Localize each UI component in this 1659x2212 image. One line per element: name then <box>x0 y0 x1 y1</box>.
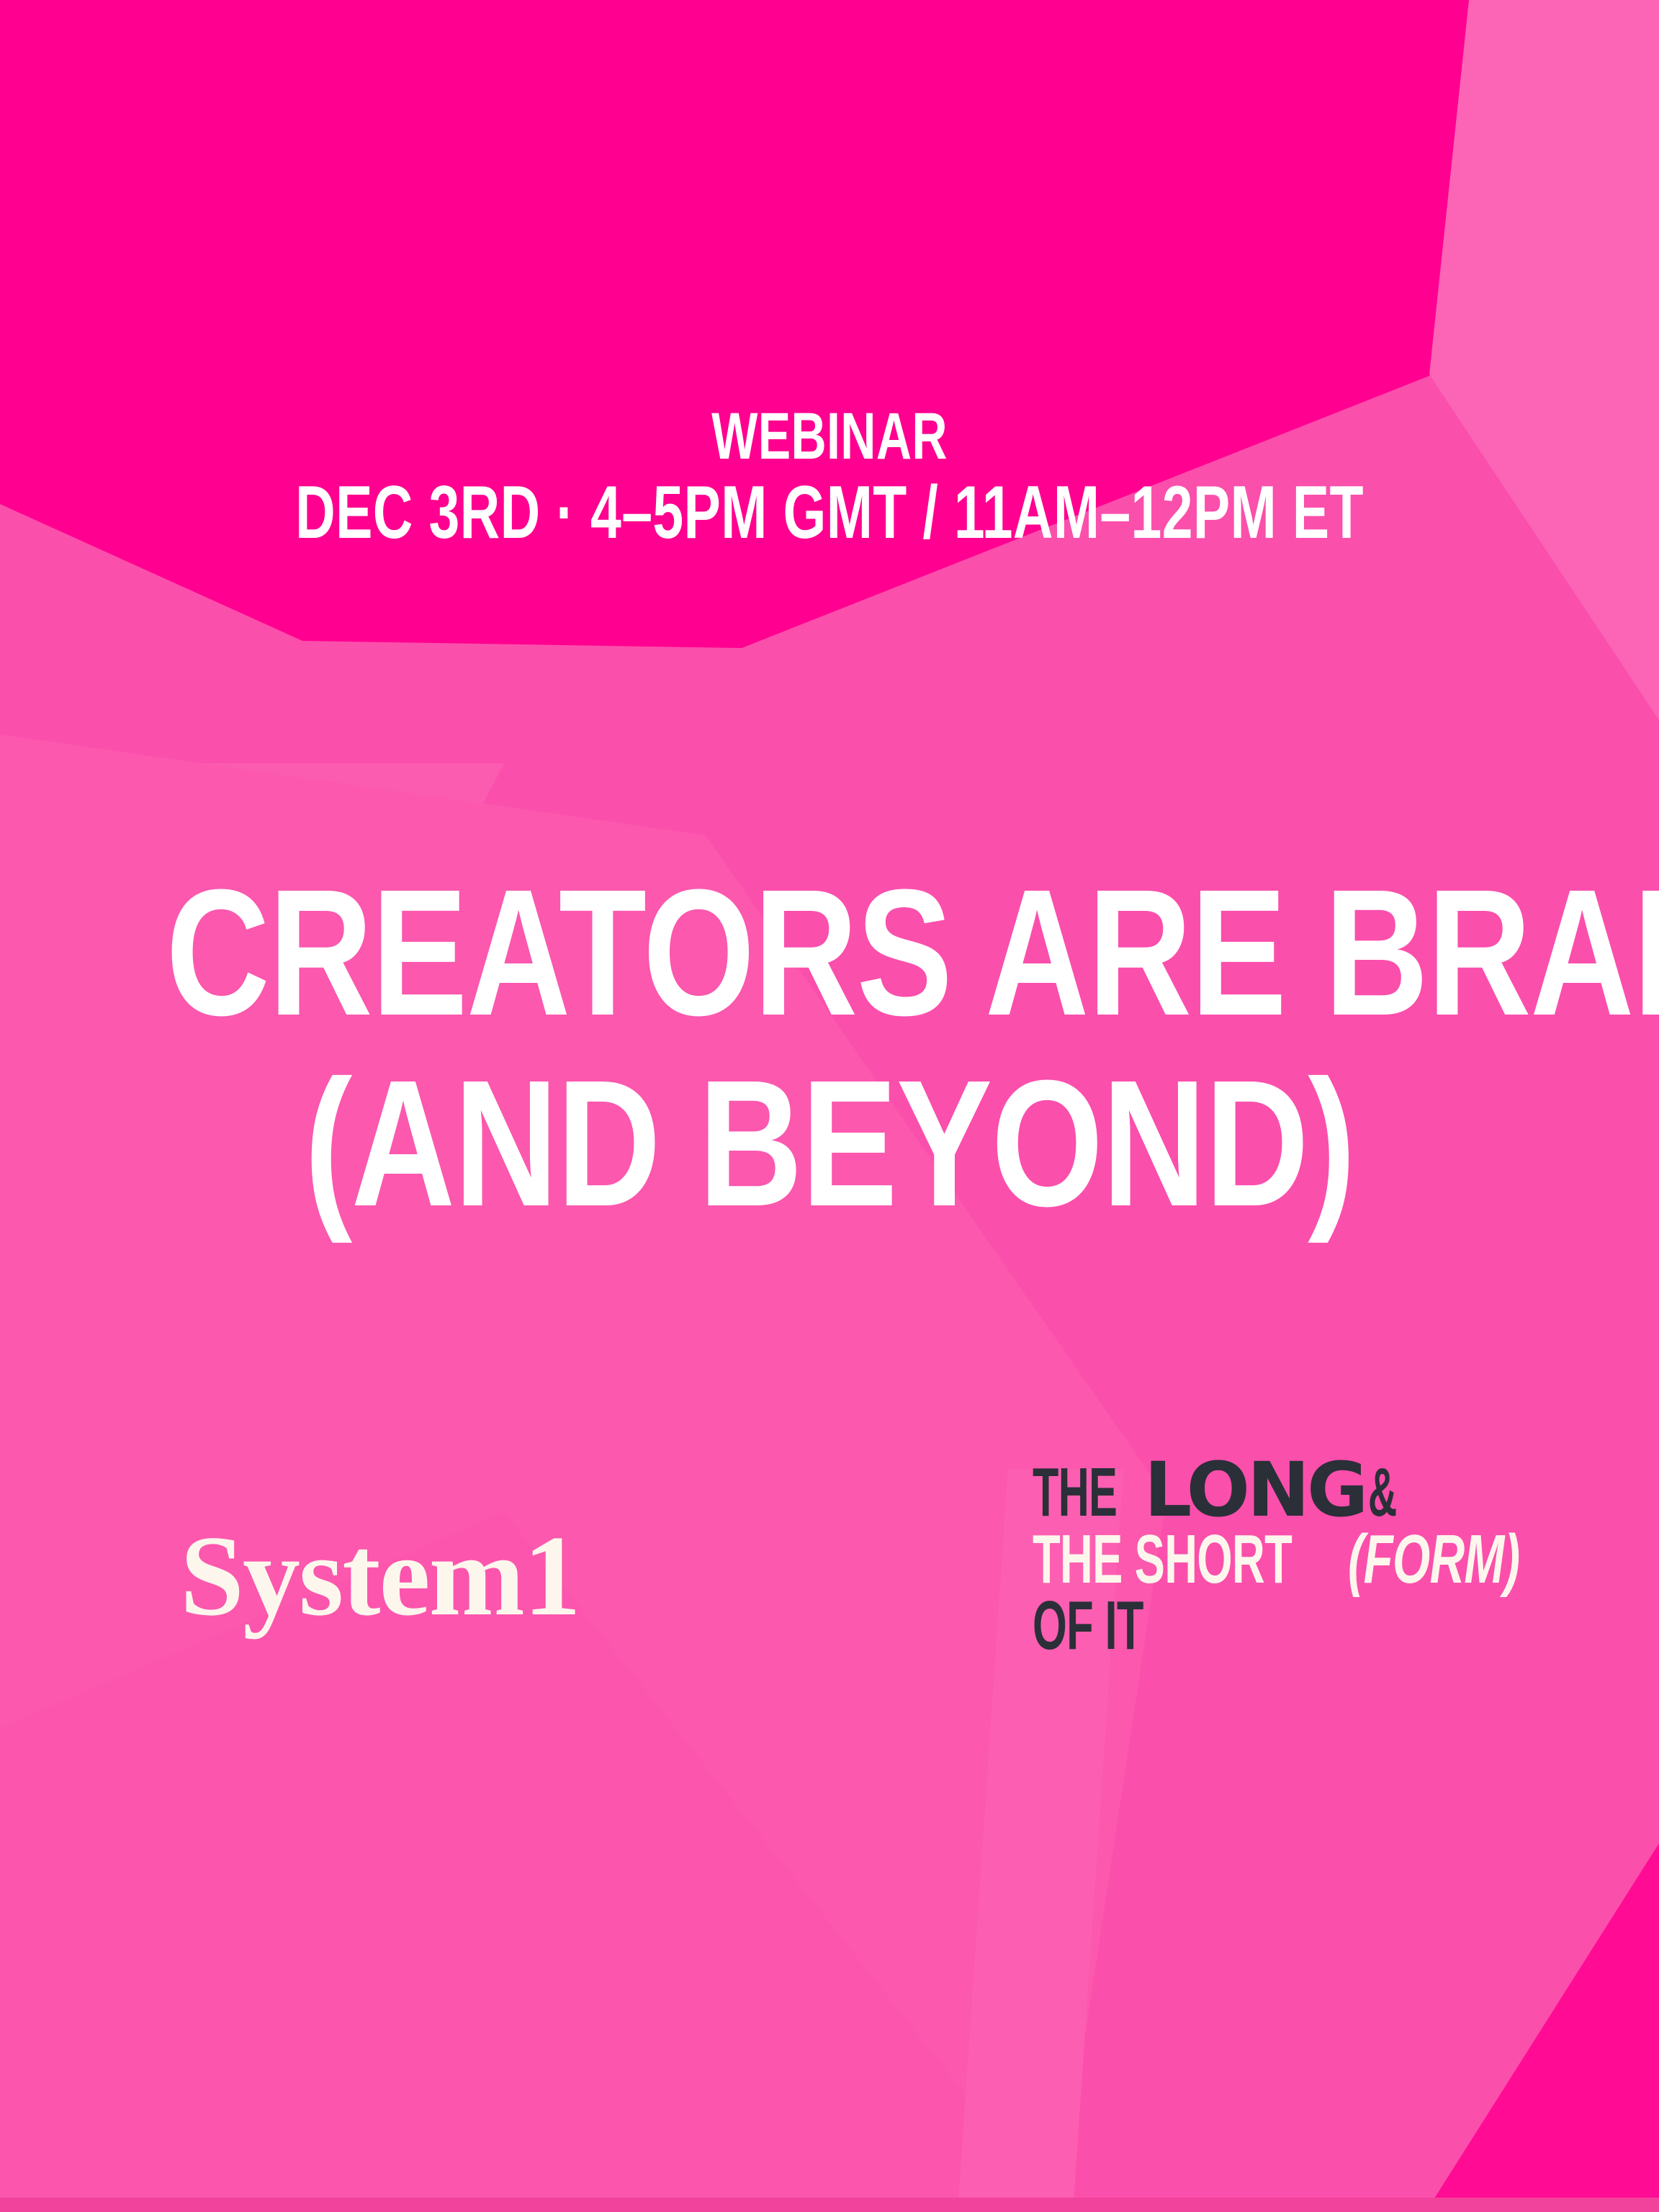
page-title: CREATORS ARE BRAND BUILDERS (AND BEYOND) <box>0 860 1659 1235</box>
lsoi-ampersand: & <box>1368 1461 1397 1524</box>
webinar-promo-poster: WEBINAR DEC 3RD · 4–5PM GMT / 11AM–12PM … <box>0 0 1659 2212</box>
long-and-short-of-it-logo: THELONG& THE SHORT(FORM) OF IT <box>1033 1456 1593 1658</box>
lsoi-long-word: LONG <box>1144 1456 1365 1525</box>
webinar-kicker: WEBINAR <box>216 403 1444 469</box>
lsoi-the-short-words: THE SHORT <box>1033 1528 1292 1591</box>
headline-line-1: CREATORS ARE BRAND BUILDERS <box>166 860 1493 1044</box>
webinar-eyebrow-block: WEBINAR DEC 3RD · 4–5PM GMT / 11AM–12PM … <box>0 403 1659 550</box>
lsoi-the-word: THE <box>1033 1461 1117 1524</box>
webinar-date-time: DEC 3RD · 4–5PM GMT / 11AM–12PM ET <box>216 475 1444 550</box>
system1-logo: System1 <box>180 1518 580 1633</box>
lsoi-of-it-words: OF IT <box>1033 1594 1143 1658</box>
lsoi-logo-line-1: THELONG& <box>1033 1456 1593 1525</box>
poster-content: WEBINAR DEC 3RD · 4–5PM GMT / 11AM–12PM … <box>0 0 1659 2212</box>
lsoi-logo-line-3: OF IT <box>1033 1594 1593 1658</box>
lsoi-logo-line-2: THE SHORT(FORM) <box>1033 1528 1593 1591</box>
lsoi-form-word: (FORM) <box>1348 1528 1519 1591</box>
headline-line-2: (AND BEYOND) <box>166 1051 1493 1235</box>
